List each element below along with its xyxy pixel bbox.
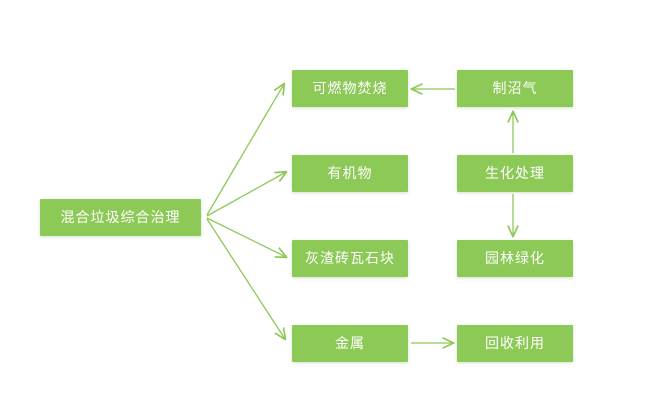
node-recycle[interactable]: 回收利用 (457, 325, 573, 362)
diagram-canvas: 混合垃圾综合治理 可燃物焚烧 有机物 灰渣砖瓦石块 金属 制沼气 生化处理 园林… (0, 0, 648, 416)
edge-root-to-metal (207, 219, 285, 339)
edge-root-to-ash (207, 218, 286, 257)
node-ash[interactable]: 灰渣砖瓦石块 (292, 240, 408, 277)
node-metal[interactable]: 金属 (292, 325, 408, 362)
node-biochem[interactable]: 生化处理 (457, 155, 573, 192)
node-ash-label: 灰渣砖瓦石块 (305, 252, 395, 266)
edge-root-to-burn (207, 84, 284, 215)
node-biogas[interactable]: 制沼气 (457, 70, 573, 107)
node-organic[interactable]: 有机物 (292, 155, 408, 192)
node-root[interactable]: 混合垃圾综合治理 (40, 199, 201, 236)
node-recycle-label: 回收利用 (485, 337, 545, 351)
node-organic-label: 有机物 (328, 167, 373, 181)
node-biogas-label: 制沼气 (493, 82, 538, 96)
node-burn-label: 可燃物焚烧 (313, 82, 388, 96)
node-metal-label: 金属 (335, 337, 365, 351)
node-landscape-label: 园林绿化 (485, 252, 545, 266)
node-root-label: 混合垃圾综合治理 (61, 211, 181, 225)
node-burn[interactable]: 可燃物焚烧 (292, 70, 408, 107)
edge-root-to-organic (207, 172, 286, 216)
node-landscape[interactable]: 园林绿化 (457, 240, 573, 277)
node-biochem-label: 生化处理 (485, 167, 545, 181)
